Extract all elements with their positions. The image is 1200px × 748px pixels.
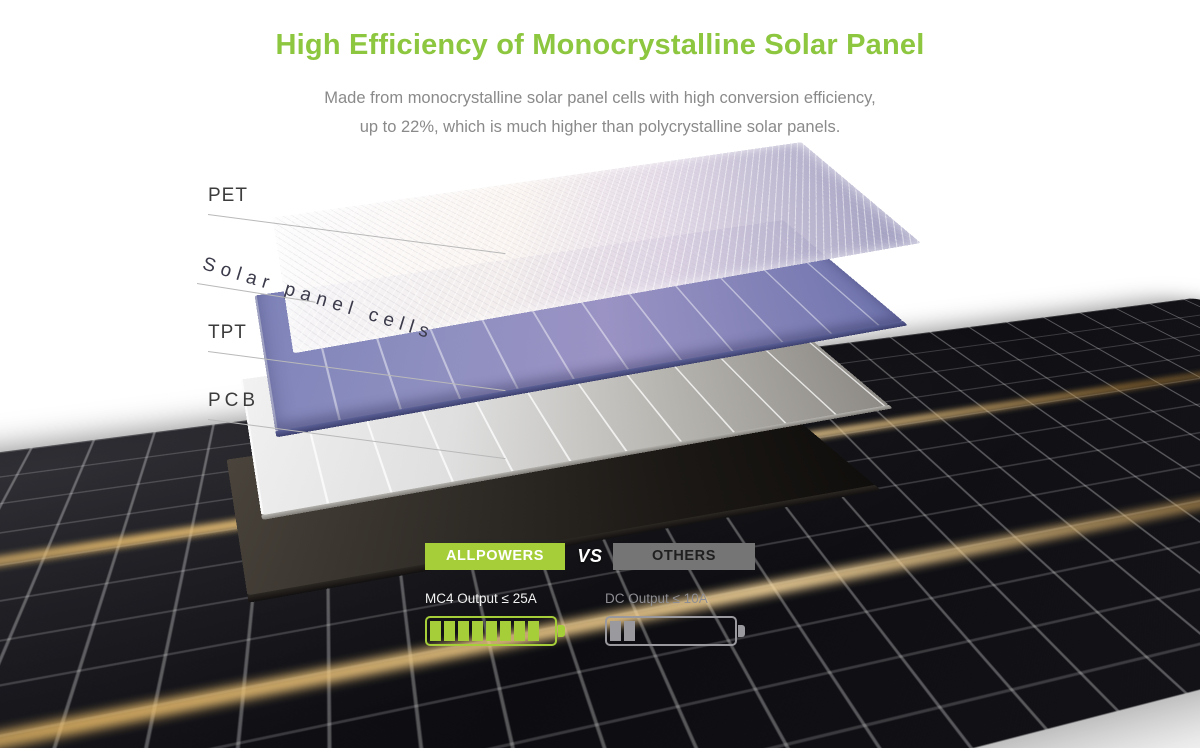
badge-vs: VS [573,543,607,570]
page-title: High Efficiency of Monocrystalline Solar… [0,29,1200,62]
battery-bar [472,621,483,641]
layer-label-tpt: TPT [208,322,247,344]
battery-terminal [738,625,745,637]
infographic-canvas: High Efficiency of Monocrystalline Solar… [0,0,1200,748]
battery-bars-allpowers [430,621,539,641]
subtitle-line-1: Made from monocrystalline solar panel ce… [0,84,1200,113]
page-subtitle: Made from monocrystalline solar panel ce… [0,84,1200,142]
comparison-block: ALLPOWERS VS OTHERS MC4 Output ≤ 25A DC … [425,543,755,668]
allpowers-output-caption: MC4 Output ≤ 25A [425,591,575,606]
battery-bar [444,621,455,641]
badge-allpowers: ALLPOWERS [425,543,565,570]
battery-bar [528,621,539,641]
battery-bar [430,621,441,641]
battery-bar [500,621,511,641]
layer-label-pet: PET [208,185,248,207]
badge-others: OTHERS [613,543,755,570]
comparison-column-others: DC Output ≤ 10A [605,591,755,646]
battery-icon-allpowers [425,616,568,646]
layer-label-pcb: PCB [208,390,259,412]
battery-bars-others [610,621,635,641]
battery-bar [458,621,469,641]
battery-bar [610,621,621,641]
battery-terminal [558,625,565,637]
battery-bar [486,621,497,641]
battery-icon-others [605,616,748,646]
comparison-column-allpowers: MC4 Output ≤ 25A [425,591,575,646]
subtitle-line-2: up to 22%, which is much higher than pol… [0,113,1200,142]
others-output-caption: DC Output ≤ 10A [605,591,755,606]
battery-bar [514,621,525,641]
battery-bar [624,621,635,641]
comparison-badges: ALLPOWERS VS OTHERS [425,543,755,570]
